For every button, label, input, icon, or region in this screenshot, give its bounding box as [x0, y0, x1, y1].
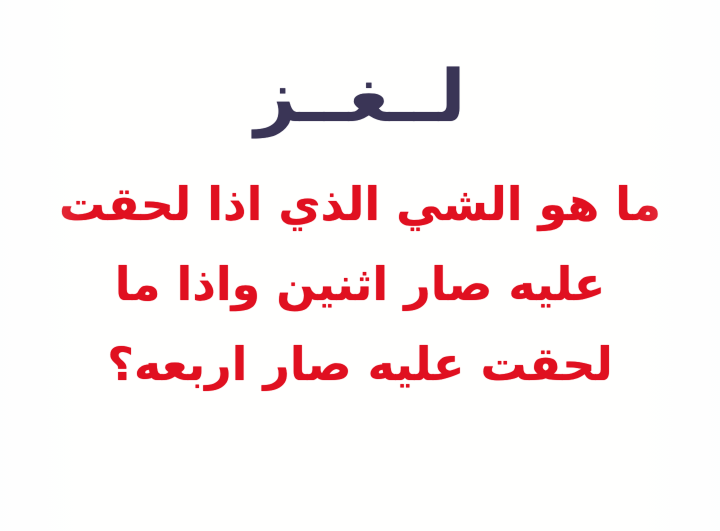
riddle-poster: لــغــز ما هو الشي الذي اذا لحقت عليه صا… — [0, 0, 720, 531]
page-title: لــغــز — [255, 60, 466, 132]
riddle-line-2: عليه صار اثنين واذا ما — [115, 244, 606, 324]
riddle-line-1: ما هو الشي الذي اذا لحقت — [59, 164, 661, 244]
riddle-line-3: لحقت عليه صار اربعه؟ — [107, 324, 612, 404]
riddle-body: ما هو الشي الذي اذا لحقت عليه صار اثنين … — [0, 164, 720, 404]
title-block: لــغــز — [0, 44, 720, 148]
